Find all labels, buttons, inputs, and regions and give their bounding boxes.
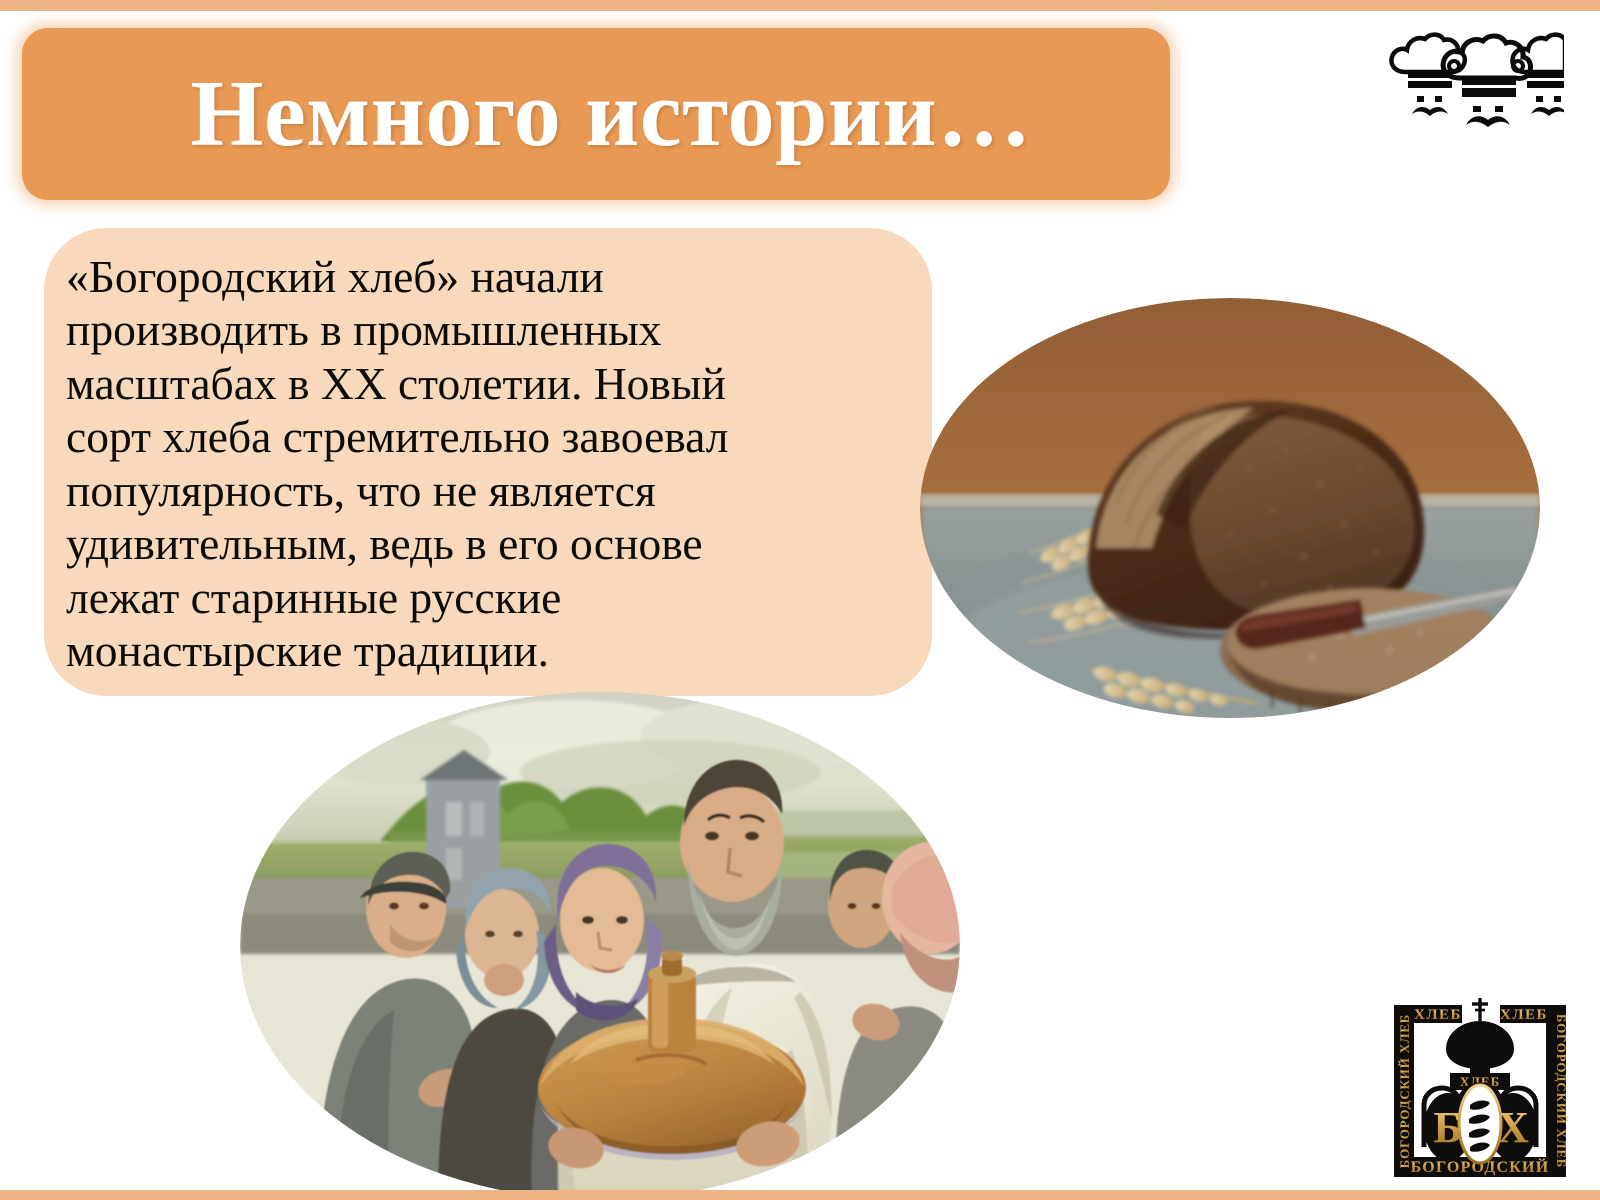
body-text-panel: «Богородский хлеб» начали производить в … <box>44 228 932 696</box>
logo-right-side-word: БОГОРОДСКИЙ ХЛЕБ <box>1554 1014 1569 1168</box>
painting-photo <box>240 692 960 1200</box>
chef-hats-icon <box>1384 26 1564 136</box>
slide-root: Немного истории… <box>0 0 1600 1200</box>
bogorodsky-hleb-logo: ХЛЕБ ХЛЕБ БОГОРОДСКИЙ БОГОРОДСКИЙ ХЛЕБ Б… <box>1380 987 1580 1185</box>
bottom-accent-strip <box>0 1190 1600 1200</box>
painting-oval-mask <box>240 692 960 1200</box>
bread-photo-oval-mask <box>920 298 1540 718</box>
logo-top-right-word: ХЛЕБ <box>1500 1007 1548 1023</box>
title-banner: Немного истории… <box>22 28 1170 200</box>
top-accent-strip <box>0 0 1600 11</box>
logo-left-side-word: БОГОРОДСКИЙ ХЛЕБ <box>1397 1014 1412 1168</box>
bread-photo <box>920 298 1540 718</box>
logo-top-left-word: ХЛЕБ <box>1414 1007 1462 1023</box>
body-paragraph: «Богородский хлеб» начали производить в … <box>66 250 892 678</box>
page-title: Немного истории… <box>22 28 1170 200</box>
